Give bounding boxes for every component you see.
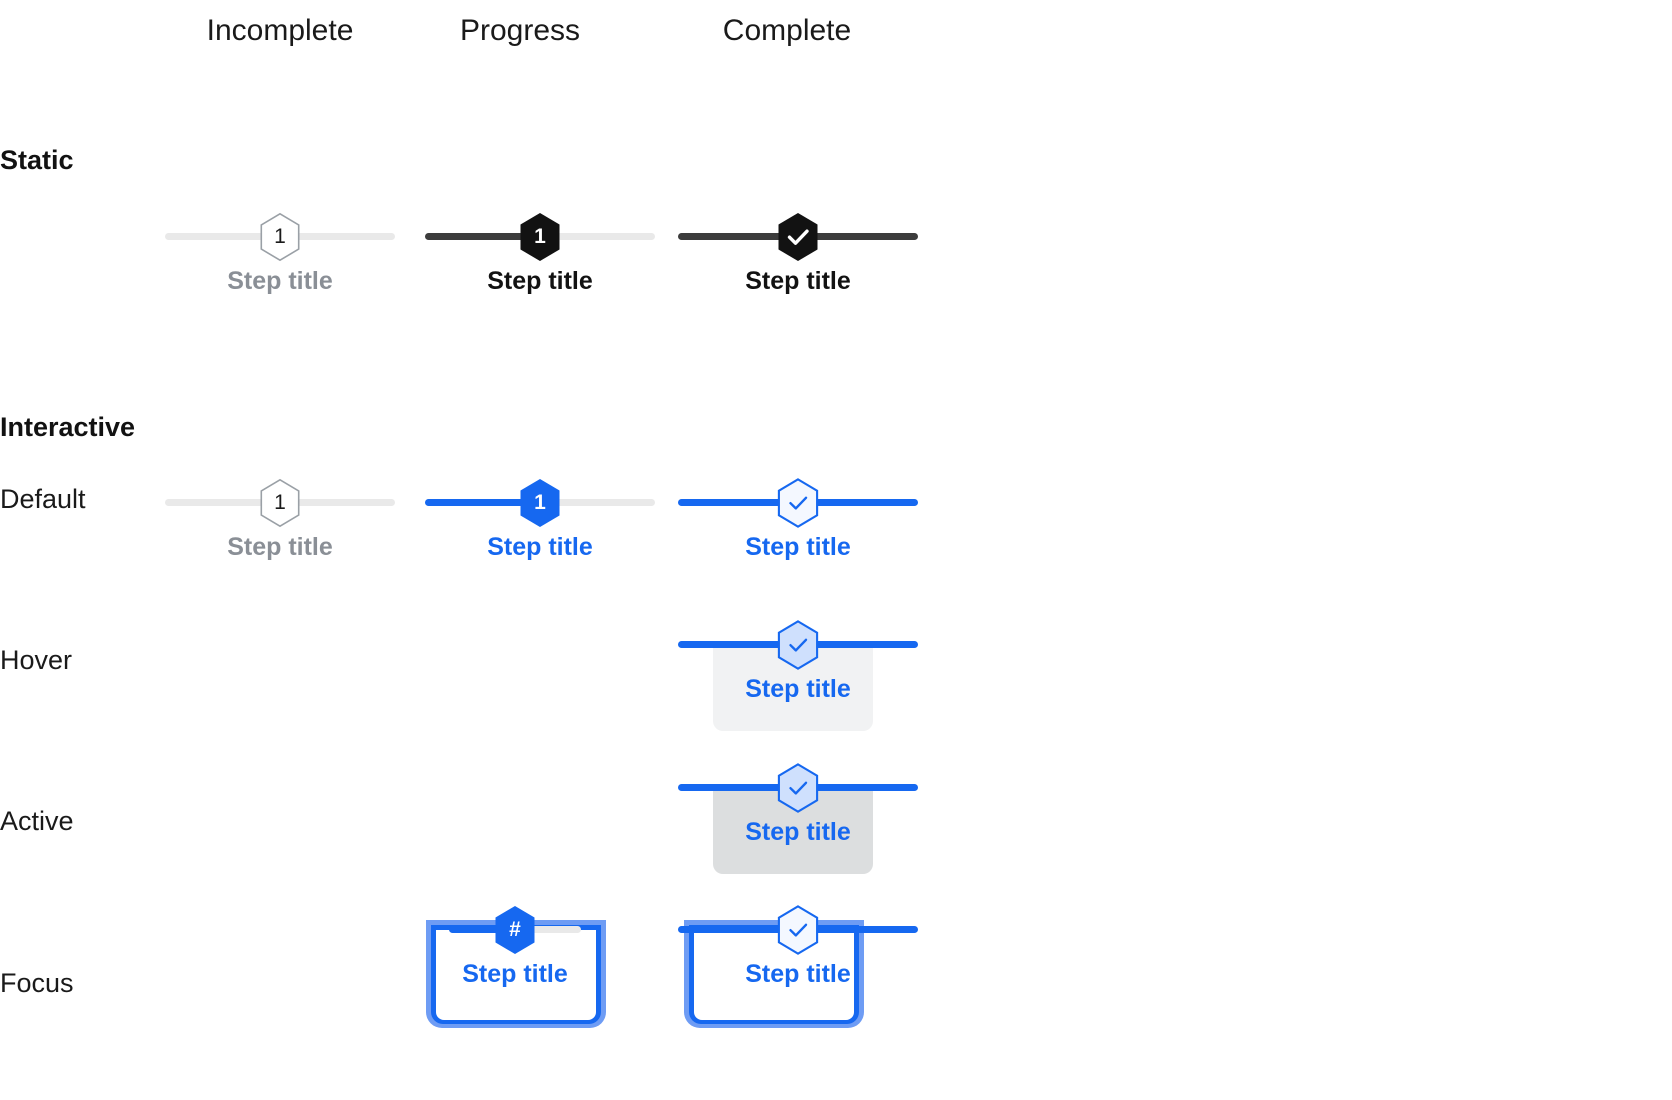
column-header-complete: Complete <box>723 14 851 48</box>
step-title[interactable]: Step title <box>165 533 395 562</box>
hexagon-icon <box>776 478 820 528</box>
hexagon-icon <box>518 212 562 262</box>
row-label-hover: Hover <box>0 645 72 676</box>
step-title[interactable]: Step title <box>425 533 655 562</box>
step-title[interactable]: Step title <box>683 960 913 989</box>
step-title[interactable]: Step title <box>683 675 913 704</box>
hexagon-icon <box>518 478 562 528</box>
hexagon-marker[interactable]: # <box>493 905 537 955</box>
step-title[interactable]: Step title <box>449 960 581 989</box>
hexagon-marker: 1 <box>258 212 302 262</box>
column-header-incomplete: Incomplete <box>207 14 354 48</box>
step-title: Step title <box>165 267 395 296</box>
row-label-default: Default <box>0 484 86 515</box>
hexagon-icon <box>258 478 302 528</box>
hexagon-marker[interactable] <box>776 905 820 955</box>
hexagon-marker: 1 <box>518 212 562 262</box>
hexagon-icon <box>493 905 537 955</box>
hexagon-icon <box>776 212 820 262</box>
section-label-static: Static <box>0 145 74 176</box>
step-title: Step title <box>425 267 655 296</box>
step-title[interactable]: Step title <box>683 818 913 847</box>
hexagon-icon <box>258 212 302 262</box>
hexagon-marker[interactable] <box>776 478 820 528</box>
hexagon-marker <box>776 212 820 262</box>
column-header-progress: Progress <box>460 14 580 48</box>
row-label-focus: Focus <box>0 968 74 999</box>
step-title: Step title <box>683 267 913 296</box>
hexagon-marker[interactable]: 1 <box>518 478 562 528</box>
hexagon-marker[interactable] <box>776 620 820 670</box>
step-title[interactable]: Step title <box>683 533 913 562</box>
section-label-interactive: Interactive <box>0 412 135 443</box>
row-label-active: Active <box>0 806 74 837</box>
hexagon-icon <box>776 763 820 813</box>
hexagon-marker[interactable] <box>776 763 820 813</box>
hexagon-icon <box>776 620 820 670</box>
hexagon-icon <box>776 905 820 955</box>
hexagon-marker[interactable]: 1 <box>258 478 302 528</box>
